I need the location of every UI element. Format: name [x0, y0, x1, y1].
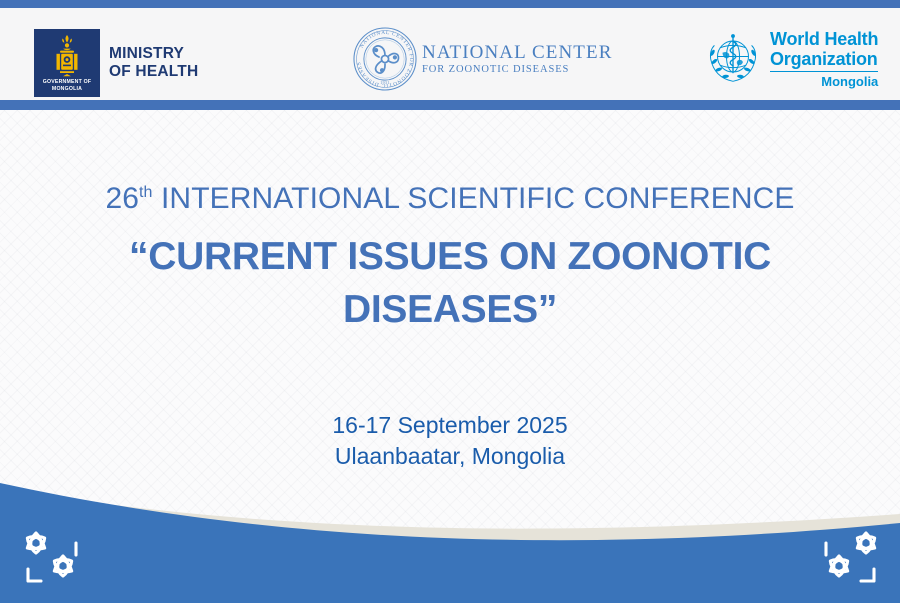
- who-divider-rule: [770, 71, 878, 73]
- slide-body: 26th INTERNATIONAL SCIENTIFIC CONFERENCE…: [0, 110, 900, 603]
- who-name-line2: Organization: [770, 49, 878, 69]
- ministry-of-health-label: MINISTRY OF HEALTH: [109, 45, 198, 81]
- ministry-label-line2: OF HEALTH: [109, 63, 198, 81]
- headline-number: 26: [105, 182, 139, 215]
- headline-ordinal-suffix: th: [139, 184, 153, 201]
- crest-caption: GOVERNMENT OF MONGOLIA: [43, 79, 91, 93]
- conference-title-line1: “CURRENT ISSUES ON ZOONOTIC: [60, 230, 840, 283]
- svg-text:1931: 1931: [380, 80, 390, 85]
- conference-title: “CURRENT ISSUES ON ZOONOTIC DISEASES”: [60, 230, 840, 336]
- event-details: 16-17 September 2025 Ulaanbaatar, Mongol…: [0, 410, 900, 472]
- event-date: 16-17 September 2025: [0, 410, 900, 441]
- headline-rest: INTERNATIONAL SCIENTIFIC CONFERENCE: [153, 182, 795, 215]
- svg-text:NATIONAL CENTER FOR ZOONOTIC D: NATIONAL CENTER FOR ZOONOTIC DISEASES: [356, 30, 414, 88]
- conference-headline: 26th INTERNATIONAL SCIENTIFIC CONFERENCE: [0, 182, 900, 216]
- nczd-name-line1: NATIONAL CENTER: [422, 42, 612, 63]
- who-emblem-icon: [702, 28, 764, 90]
- ministry-of-health-logo: GOVERNMENT OF MONGOLIA MINISTRY OF HEALT…: [34, 29, 198, 97]
- conference-title-slide: GOVERNMENT OF MONGOLIA MINISTRY OF HEALT…: [0, 0, 900, 603]
- who-mongolia-logo: World Health Organization Mongolia: [702, 28, 878, 90]
- conference-title-line2: DISEASES”: [60, 283, 840, 336]
- nczd-name-line2: FOR ZOONOTIC DISEASES: [422, 63, 612, 76]
- event-location: Ulaanbaatar, Mongolia: [0, 441, 900, 472]
- who-name-line1: World Health: [770, 29, 878, 49]
- header-bottom-accent-rule: [0, 100, 900, 110]
- who-country-label: Mongolia: [770, 74, 878, 89]
- nczd-seal-icon: NATIONAL CENTER FOR ZOONOTIC DISEASES 19…: [352, 26, 418, 92]
- logo-header-band: GOVERNMENT OF MONGOLIA MINISTRY OF HEALT…: [0, 8, 900, 100]
- mongolian-knot-ornament-left: [14, 525, 90, 587]
- who-wordmark: World Health Organization Mongolia: [770, 29, 878, 90]
- nczd-wordmark: NATIONAL CENTER FOR ZOONOTIC DISEASES: [422, 42, 612, 76]
- national-center-zoonotic-diseases-logo: NATIONAL CENTER FOR ZOONOTIC DISEASES 19…: [352, 26, 612, 92]
- ministry-label-line1: MINISTRY: [109, 45, 198, 63]
- mongolian-knot-ornament-right: [812, 525, 888, 587]
- top-accent-rule: [0, 0, 900, 8]
- soyombo-icon: [47, 33, 87, 77]
- mongolia-government-crest: GOVERNMENT OF MONGOLIA: [34, 29, 100, 97]
